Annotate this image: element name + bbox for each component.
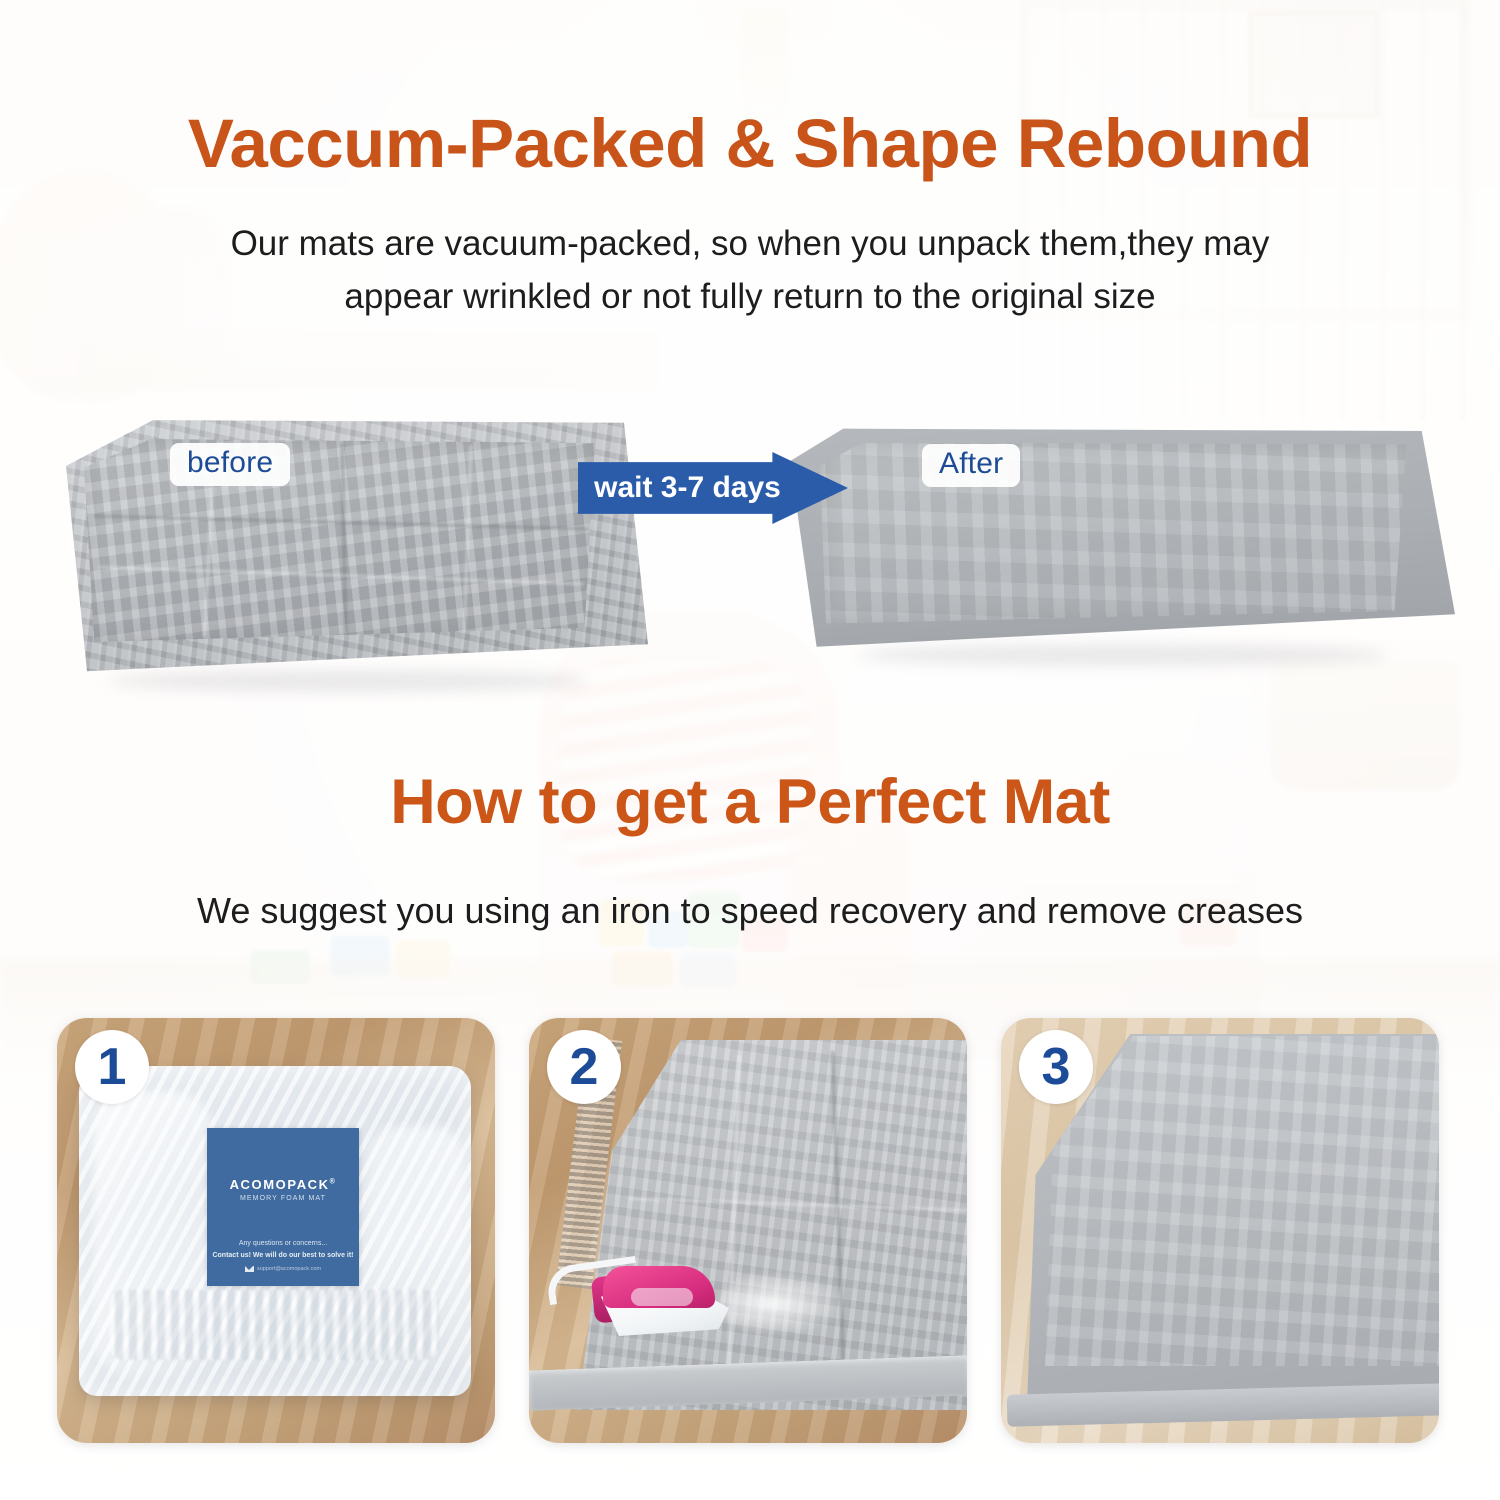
mat-before-image	[48, 412, 648, 682]
subtitle-main-line2: appear wrinkled or not fully return to t…	[0, 271, 1500, 324]
label-contact-line: Contact us! We will do our best to solve…	[207, 1252, 359, 1259]
step-number: 2	[570, 1041, 599, 1093]
subtitle-main-line1: Our mats are vacuum-packed, so when you …	[0, 218, 1500, 271]
restored-mat-surface	[1045, 1036, 1439, 1366]
wait-arrow-label: wait 3-7 days	[578, 473, 785, 503]
step-panel-3: 3	[1001, 1018, 1439, 1443]
product-name: MEMORY FOAM MAT	[207, 1195, 359, 1202]
mat-shadow	[857, 644, 1389, 666]
label-question-line: Any questions or concerns...	[207, 1240, 359, 1247]
brand-name: ACOMOPACK®	[207, 1177, 359, 1192]
step-badge-2: 2	[547, 1030, 621, 1104]
mat-after-surface	[820, 443, 1419, 624]
package-fold	[109, 1290, 439, 1360]
step-panel-1: ACOMOPACK® MEMORY FOAM MAT Any questions…	[57, 1018, 495, 1443]
infographic-page: Vaccum-Packed & Shape Rebound Our mats a…	[0, 0, 1500, 1500]
subtitle-main: Our mats are vacuum-packed, so when you …	[0, 218, 1500, 323]
mat-crease	[629, 1197, 967, 1212]
package-label: ACOMOPACK® MEMORY FOAM MAT Any questions…	[207, 1128, 359, 1286]
steam-cloud	[719, 1270, 849, 1338]
iron-handle-gap	[631, 1288, 693, 1306]
step-badge-1: 1	[75, 1030, 149, 1104]
step-number: 3	[1042, 1041, 1071, 1093]
before-label: before	[170, 443, 290, 486]
envelope-icon	[245, 1266, 254, 1272]
mat-shadow	[108, 670, 588, 692]
mat-after-image	[790, 424, 1455, 656]
after-label: After	[922, 444, 1020, 487]
page-title-how: How to get a Perfect Mat	[0, 766, 1500, 838]
label-email: support@acomopack.com	[257, 1266, 321, 1272]
mat-crease	[462, 445, 472, 638]
step-panels: ACOMOPACK® MEMORY FOAM MAT Any questions…	[0, 1018, 1500, 1450]
step-badge-3: 3	[1019, 1030, 1093, 1104]
mat-crease	[340, 443, 347, 640]
iron-handle	[603, 1266, 715, 1308]
page-title-main: Vaccum-Packed & Shape Rebound	[0, 104, 1500, 183]
mat-before-surface	[84, 439, 600, 644]
label-email-row: support@acomopack.com	[207, 1266, 359, 1272]
step-number: 1	[98, 1041, 127, 1093]
steam-iron	[591, 1258, 731, 1336]
vacuum-sealed-package: ACOMOPACK® MEMORY FOAM MAT Any questions…	[79, 1066, 471, 1396]
subtitle-how: We suggest you using an iron to speed re…	[0, 884, 1500, 938]
step-panel-2: 2	[529, 1018, 967, 1443]
